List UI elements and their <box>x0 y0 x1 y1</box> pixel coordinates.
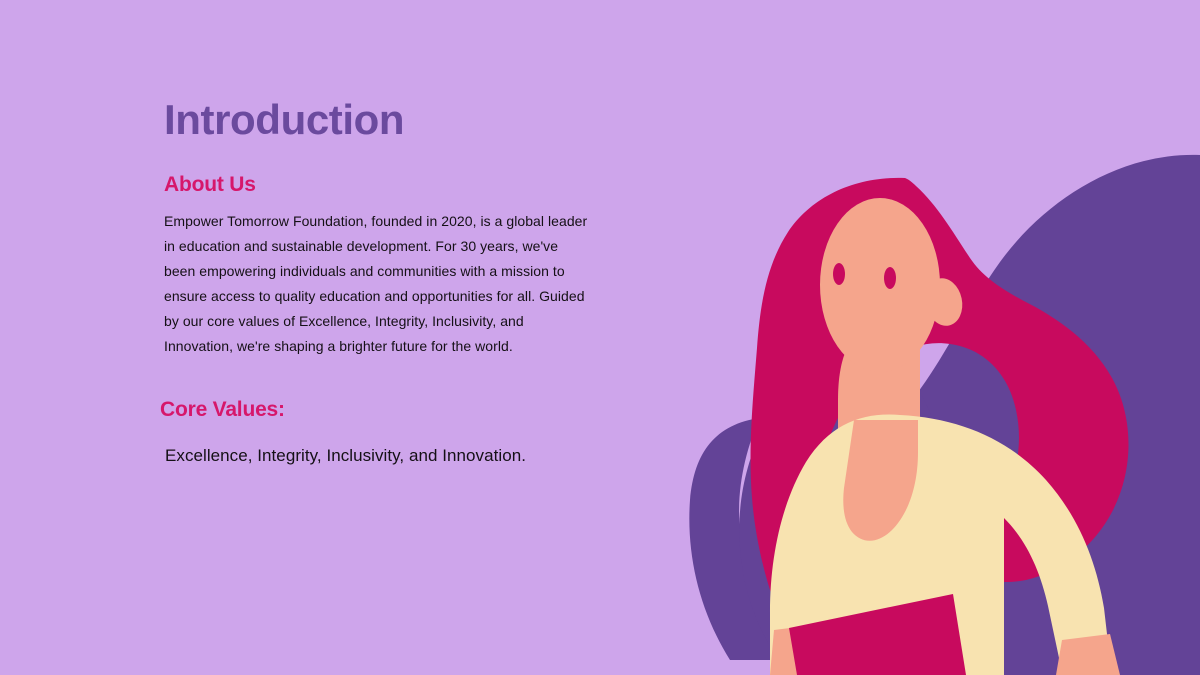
background-blob-left-lobe <box>739 358 965 675</box>
background-blob <box>689 155 1200 675</box>
left-arm <box>770 626 812 675</box>
slide-canvas: Introduction About Us Empower Tomorrow F… <box>0 0 1200 675</box>
page-title: Introduction <box>164 98 594 142</box>
neck <box>838 340 920 538</box>
right-eye <box>884 267 896 289</box>
text-content-column: Introduction About Us Empower Tomorrow F… <box>164 98 594 468</box>
core-values-body: Excellence, Integrity, Inclusivity, and … <box>165 444 594 468</box>
right-arm <box>1056 634 1120 675</box>
left-eye <box>833 263 845 285</box>
book <box>789 594 966 675</box>
face <box>820 198 940 372</box>
shirt <box>770 415 1110 675</box>
core-values-heading: Core Values: <box>160 397 594 422</box>
ear <box>921 275 966 329</box>
about-us-heading: About Us <box>164 172 594 197</box>
about-us-body: Empower Tomorrow Foundation, founded in … <box>164 209 589 359</box>
chest-skin <box>843 420 918 541</box>
hair <box>751 178 1129 640</box>
